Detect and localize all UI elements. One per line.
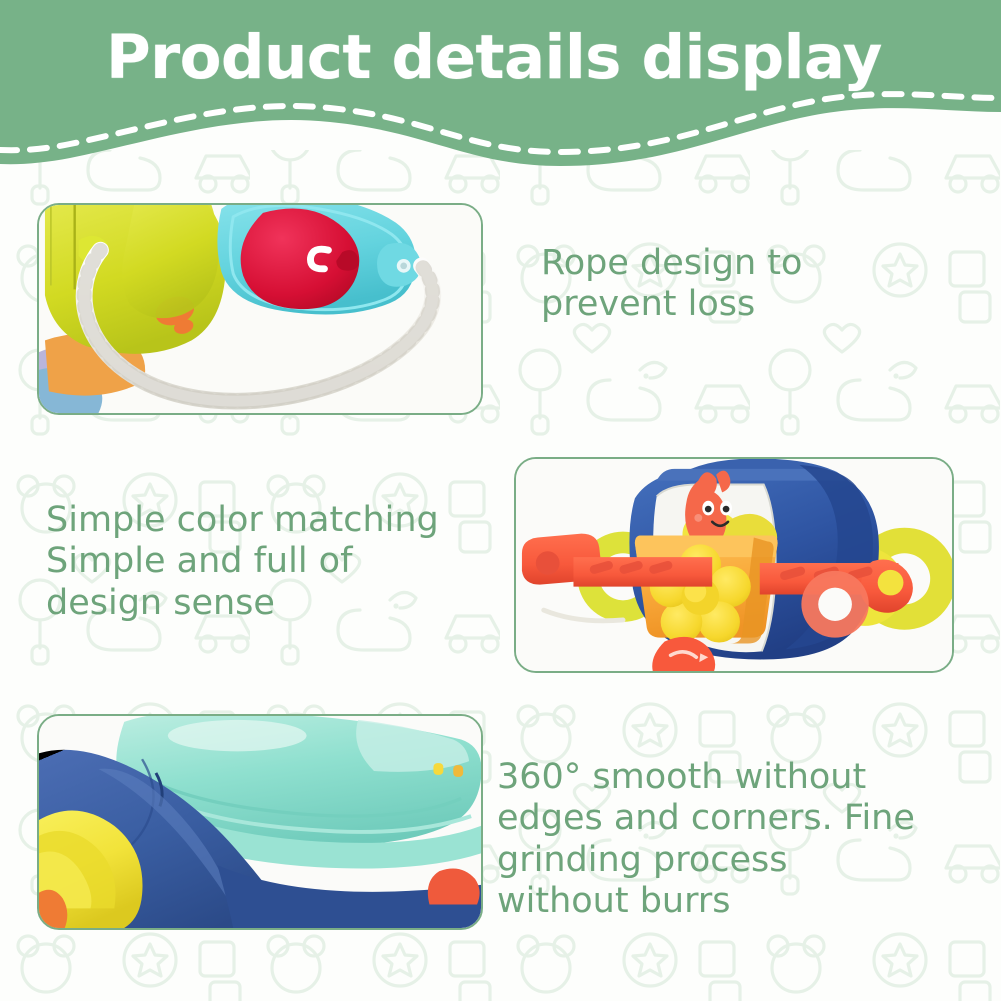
- feature-photo-smooth-360-image: [39, 716, 481, 928]
- page-title: Product details display: [106, 26, 882, 90]
- feature-caption-smooth-360: 360° smooth without edges and corners. F…: [497, 757, 915, 922]
- feature-caption-color-matching: Simple color matching Simple and full of…: [46, 500, 439, 624]
- page-header-band: Product details display: [0, 0, 1001, 185]
- feature-photo-smooth-360[interactable]: [37, 714, 483, 930]
- feature-photo-color-matching[interactable]: [514, 457, 954, 673]
- product-detail-page: Product details display: [0, 0, 1001, 1001]
- feature-photo-rope-image: [39, 205, 481, 413]
- feature-photo-color-matching-image: [516, 459, 952, 671]
- feature-caption-rope: Rope design to prevent loss: [541, 243, 802, 326]
- feature-photo-rope[interactable]: [37, 203, 483, 415]
